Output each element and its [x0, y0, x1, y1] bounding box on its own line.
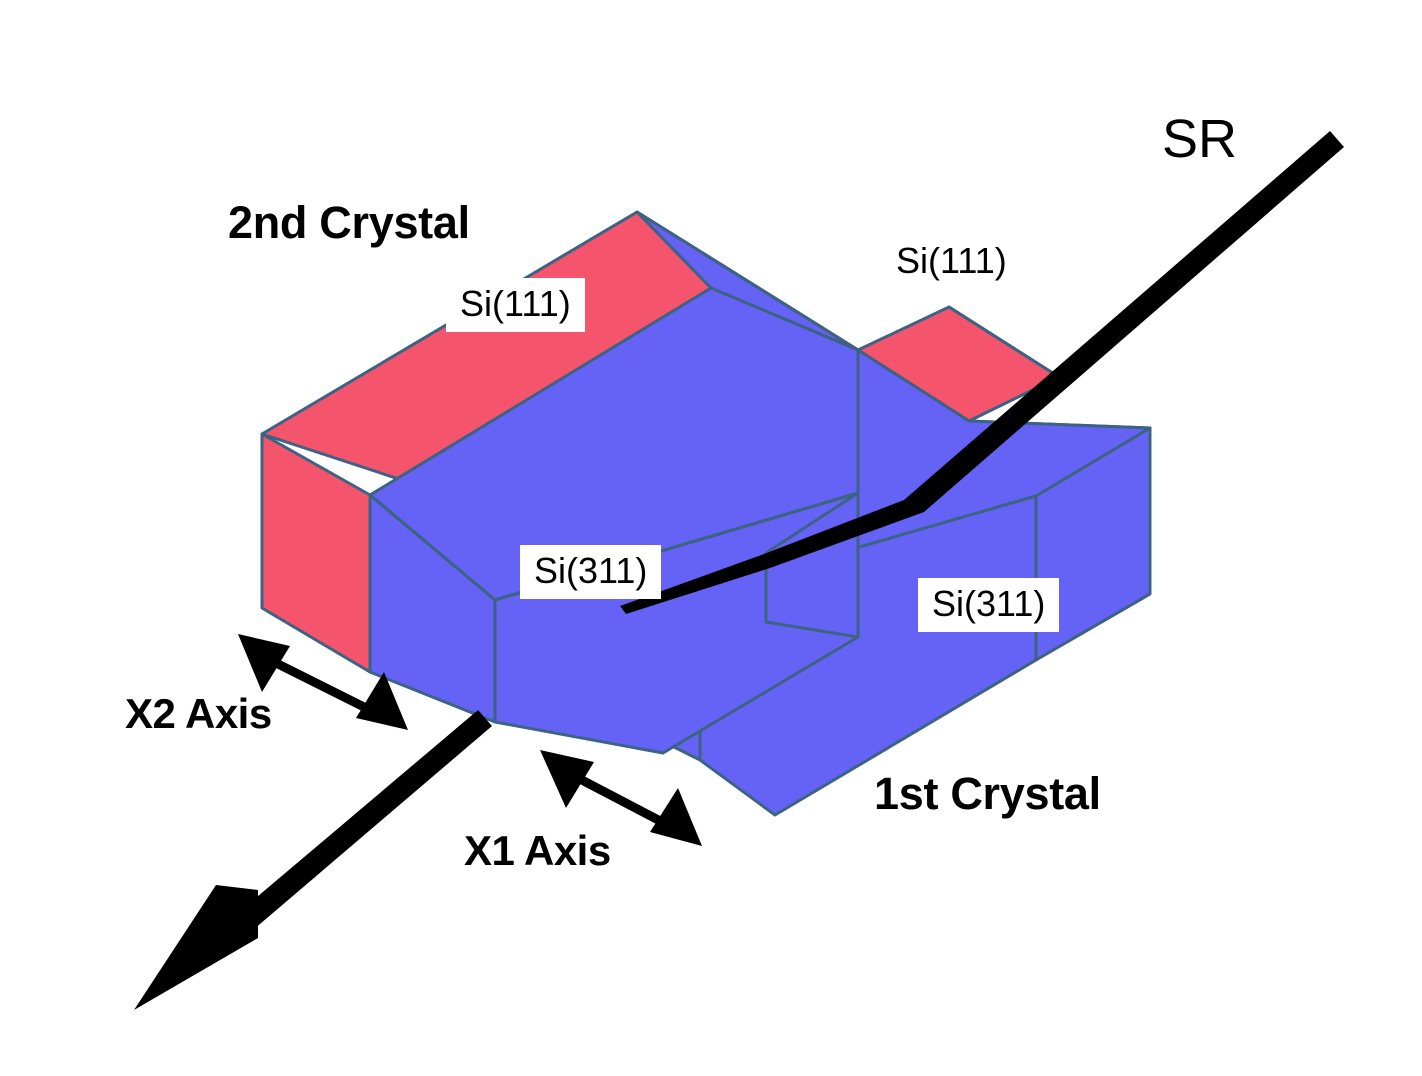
second-crystal-left-end-face [262, 434, 370, 672]
diagram-canvas: 2nd Crystal 1st Crystal SR Si(111) Si(11… [0, 0, 1422, 1076]
outgoing-sr-beam-arrowhead [134, 885, 258, 1010]
si111-right-label: Si(111) [896, 243, 1007, 279]
si311-right-label: Si(311) [918, 578, 1059, 632]
sr-beam-label: SR [1162, 112, 1237, 166]
x1-axis-arrow-shaft [578, 778, 666, 824]
outgoing-sr-beam-shaft [238, 710, 492, 930]
x1-axis-label: X1 Axis [464, 830, 611, 872]
si111-left-label: Si(111) [446, 278, 585, 332]
outgoing-sr-beam [134, 710, 492, 1010]
first-crystal-label: 1st Crystal [874, 771, 1101, 816]
x2-axis-label: X2 Axis [125, 693, 272, 735]
second-crystal-label: 2nd Crystal [228, 200, 470, 245]
si311-left-label: Si(311) [520, 545, 661, 599]
x2-axis-arrow-shaft [272, 661, 374, 712]
